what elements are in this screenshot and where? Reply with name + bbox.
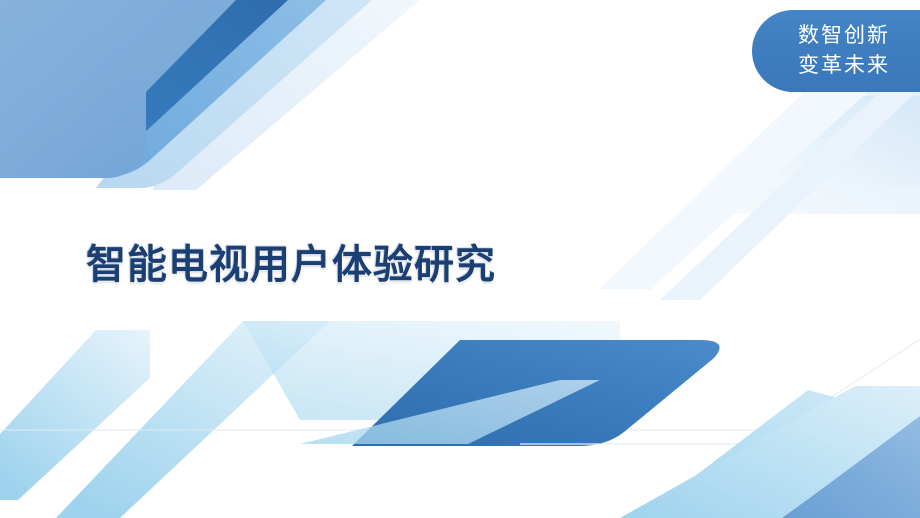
- badge-line-1: 数智创新: [798, 21, 890, 51]
- page-title: 智能电视用户体验研究: [86, 232, 496, 290]
- title-slide: 数智创新 变革未来 智能电视用户体验研究: [0, 0, 920, 518]
- badge-line-2: 变革未来: [798, 51, 890, 81]
- corner-slogan-badge: 数智创新 变革未来: [752, 10, 920, 92]
